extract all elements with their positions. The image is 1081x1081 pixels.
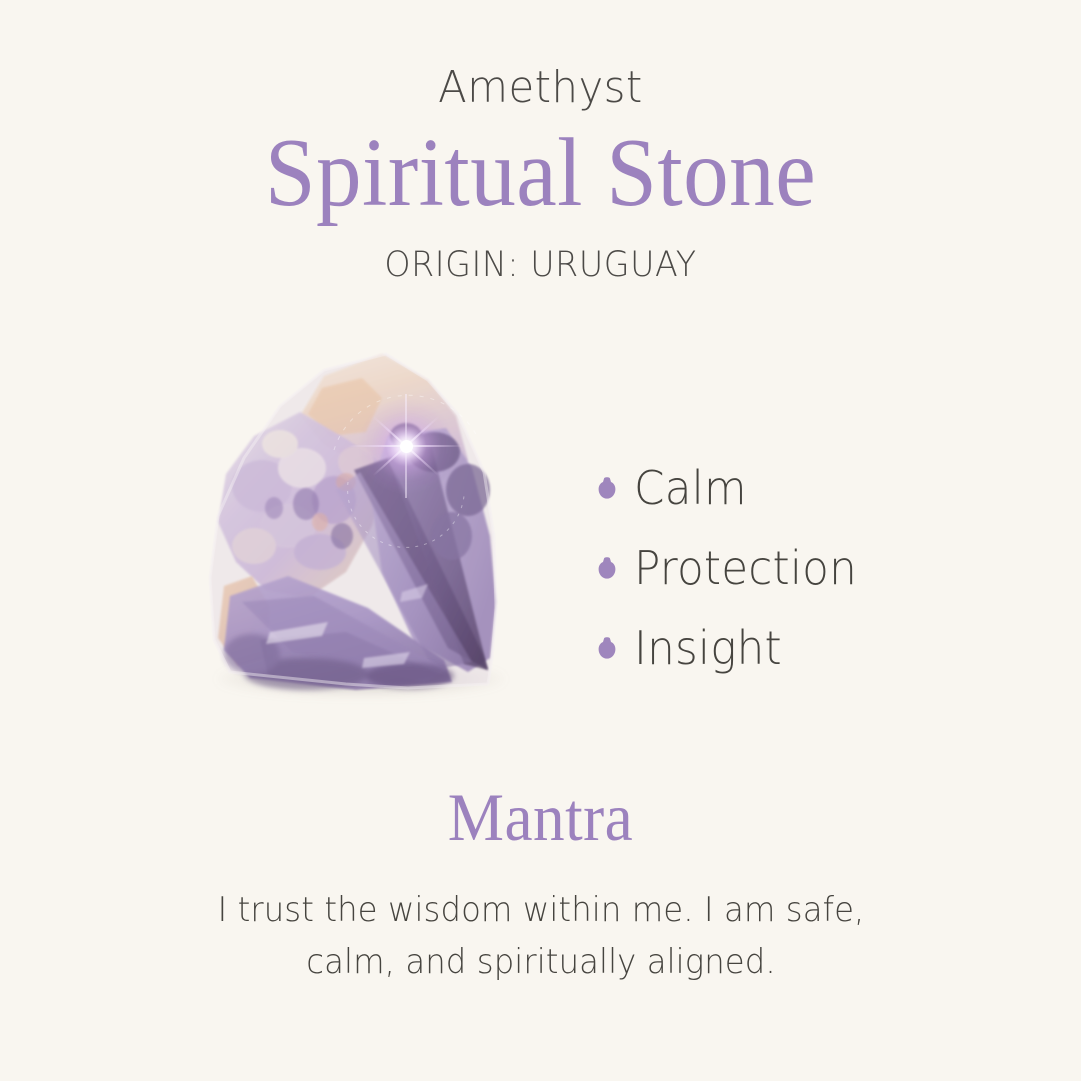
amethyst-stone-card: Amethyst Spiritual Stone ORIGIN: URUGUAY (0, 0, 1081, 1081)
list-item-label: Insight (634, 622, 782, 674)
list-item-label: Calm (634, 462, 747, 514)
gem-bullet-icon (598, 476, 616, 500)
gem-bullet-icon (598, 636, 616, 660)
list-item: Insight (598, 608, 1018, 688)
mantra-heading: Mantra (38, 778, 1043, 856)
attribute-list: Calm Protection Insight (598, 448, 1018, 688)
list-item: Protection (598, 528, 1018, 608)
mantra-text: I trust the wisdom within me. I am safe,… (194, 884, 888, 988)
page-title: Spiritual Stone (38, 118, 1043, 228)
origin-label: ORIGIN: URUGUAY (27, 244, 1054, 286)
crystal-svg (196, 340, 516, 720)
list-item-label: Protection (634, 542, 857, 594)
gem-bullet-icon (598, 556, 616, 580)
amethyst-illustration (196, 340, 516, 720)
list-item: Calm (598, 448, 1018, 528)
stone-name-eyebrow: Amethyst (27, 62, 1054, 114)
